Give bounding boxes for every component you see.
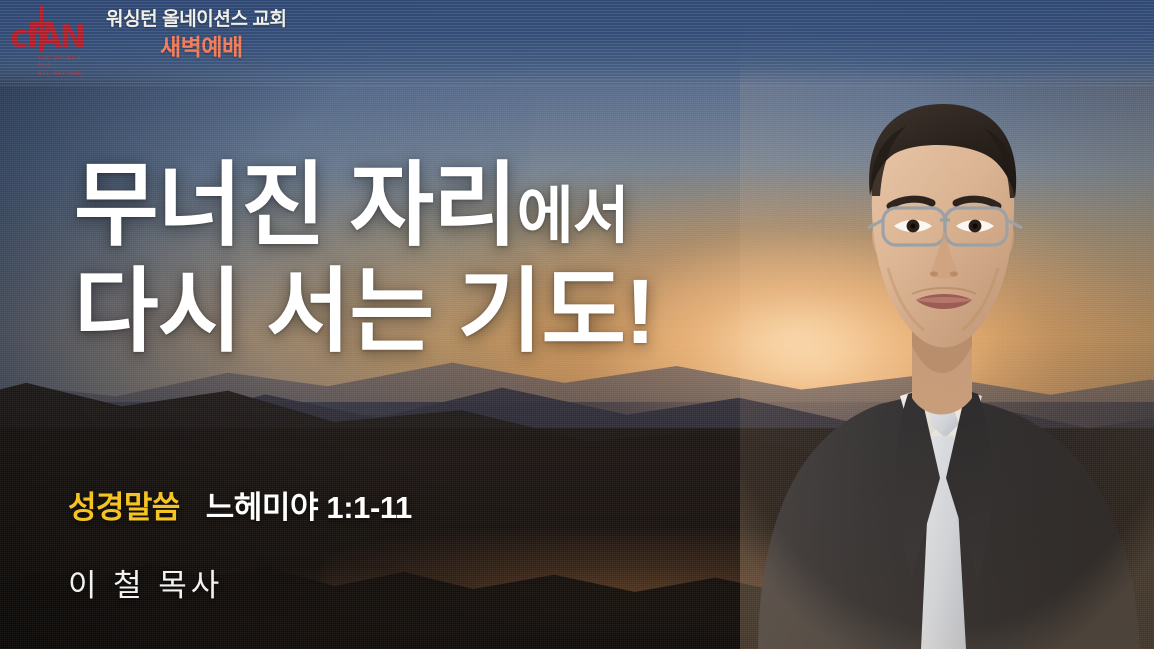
church-logo: cfAN THE CHURCH FOR ALL NATIONS [0,0,112,86]
sermon-title-slide: cfAN THE CHURCH FOR ALL NATIONS 워싱턴 올네이션… [0,0,1154,649]
logo-tagline: THE CHURCH FOR ALL NATIONS [38,56,82,78]
pastor-portrait [740,0,1154,649]
broadcast-banner: cfAN THE CHURCH FOR ALL NATIONS 워싱턴 올네이션… [0,0,1154,86]
scripture-row: 성경말씀 느헤미야 1:1-11 [68,482,412,527]
scripture-label: 성경말씀 [68,482,180,527]
sermon-meta-block: 성경말씀 느헤미야 1:1-11 이 철 목사 [68,482,412,605]
service-name: 새벽예배 [106,32,1154,62]
scripture-reference: 느헤미야 1:1-11 [206,482,412,527]
speaker-name: 이 철 목사 [68,560,412,605]
banner-text-group: 워싱턴 올네이션스 교회 새벽예배 [106,0,1154,62]
church-name: 워싱턴 올네이션스 교회 [106,8,1154,32]
logo-wordmark: cfAN [10,14,102,60]
